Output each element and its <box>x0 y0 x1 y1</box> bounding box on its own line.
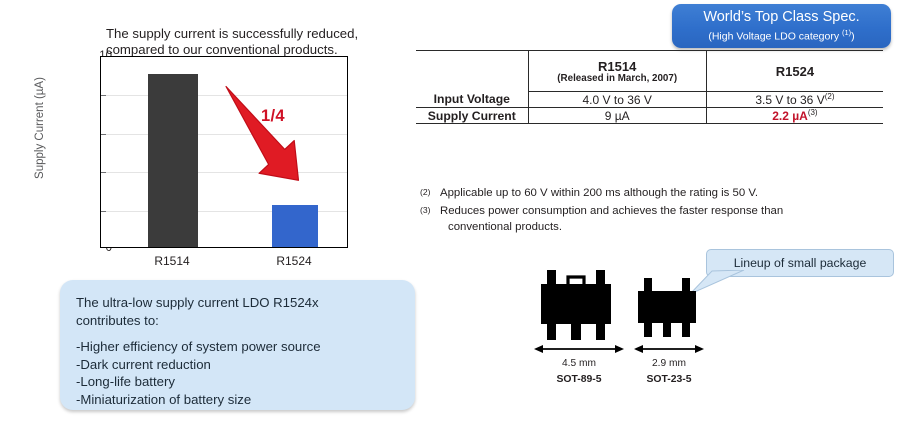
footnote-2-text: Applicable up to 60 V within 200 ms alth… <box>440 187 758 199</box>
table-col-header-r1514: R1514 (Released in March, 2007) <box>528 51 706 92</box>
badge-subtitle-text: (High Voltage LDO category <box>708 30 842 42</box>
sot-23-5-dimension-arrow-icon <box>634 343 704 355</box>
spec-comparison-table: R1514 (Released in March, 2007) R1524 In… <box>416 50 883 124</box>
info-box-lead-line1: The ultra-low supply current LDO R1524x <box>76 294 415 312</box>
badge-footnote-marker: (1) <box>842 28 851 37</box>
x-tick-label-r1514: R1514 <box>154 254 189 268</box>
sot-23-5-dimension-label: 2.9 mm <box>652 358 686 369</box>
footnote-3-marker: (3) <box>420 202 431 218</box>
footnotes: (2) Applicable up to 60 V within 200 ms … <box>420 185 840 237</box>
table-col-header-r1524: R1524 <box>706 51 883 92</box>
sot-23-5-package-name: SOT-23-5 <box>646 374 691 385</box>
badge-subtitle: (High Voltage LDO category (1)) <box>708 26 854 44</box>
footnote-2-marker: (2) <box>420 184 431 200</box>
table-col-header-r1524-name: R1524 <box>776 64 814 79</box>
table-row-supply-current: Supply Current 9 µA 2.2 µA(3) <box>416 108 883 124</box>
list-item: -Miniaturization of battery size <box>76 391 415 409</box>
list-item: -Higher efficiency of system power sourc… <box>76 338 415 356</box>
table-corner-cell <box>416 51 528 92</box>
cell-input-voltage-r1514: 4.0 V to 36 V <box>528 92 706 108</box>
ratio-annotation: 1/4 <box>261 107 285 126</box>
top-class-spec-badge: World’s Top Class Spec. (High Voltage LD… <box>672 4 891 48</box>
cell-input-voltage-r1524-value: 3.5 V to 36 V <box>755 93 824 107</box>
table-col-header-r1514-sub: (Released in March, 2007) <box>529 73 706 84</box>
cell-supply-current-r1524-value: 2.2 µA <box>772 109 808 123</box>
footnote-3: (3) Reduces power consumption and achiev… <box>420 203 840 235</box>
row-label-input-voltage: Input Voltage <box>416 92 528 108</box>
footnote-2: (2) Applicable up to 60 V within 200 ms … <box>420 185 840 201</box>
footnote-3-text: Reduces power consumption and achieves t… <box>440 205 783 217</box>
supply-current-bar-chart: Supply Current (µA) 10 8 6 4 2 0 1/4 R15… <box>18 50 368 275</box>
reduction-arrow-icon <box>100 56 348 248</box>
row-label-supply-current: Supply Current <box>416 108 528 124</box>
cell-supply-current-r1524: 2.2 µA(3) <box>706 108 883 124</box>
table-header-row: R1514 (Released in March, 2007) R1524 <box>416 51 883 92</box>
cell-supply-current-r1524-footnote: (3) <box>808 108 818 117</box>
footnote-3-text-cont: conventional products. <box>440 219 840 235</box>
badge-title: World’s Top Class Spec. <box>703 9 859 26</box>
sot-89-5-dimension-label: 4.5 mm <box>562 358 596 369</box>
sot-89-5-package-icon <box>534 268 624 344</box>
sot-89-5-package-name: SOT-89-5 <box>556 374 601 385</box>
cell-input-voltage-r1524-footnote: (2) <box>825 92 835 101</box>
info-box-lead: The ultra-low supply current LDO R1524x … <box>76 294 415 329</box>
benefits-info-box: The ultra-low supply current LDO R1524x … <box>60 280 415 410</box>
x-tick-label-r1524: R1524 <box>276 254 311 268</box>
lineup-callout-label: Lineup of small package <box>734 256 867 270</box>
list-item: -Long-life battery <box>76 373 415 391</box>
table-row-input-voltage: Input Voltage 4.0 V to 36 V 3.5 V to 36 … <box>416 92 883 108</box>
info-box-bullets: -Higher efficiency of system power sourc… <box>76 338 415 408</box>
info-box-lead-line2: contributes to: <box>76 312 415 330</box>
list-item: -Dark current reduction <box>76 356 415 374</box>
chart-y-axis-title: Supply Current (µA) <box>34 68 46 188</box>
cell-input-voltage-r1524: 3.5 V to 36 V(2) <box>706 92 883 108</box>
badge-subtitle-close: ) <box>851 30 855 42</box>
cell-supply-current-r1514: 9 µA <box>528 108 706 124</box>
sot-23-5-package-icon <box>634 276 704 344</box>
sot-89-5-dimension-arrow-icon <box>534 343 624 355</box>
table-col-header-r1514-name: R1514 <box>598 59 636 74</box>
